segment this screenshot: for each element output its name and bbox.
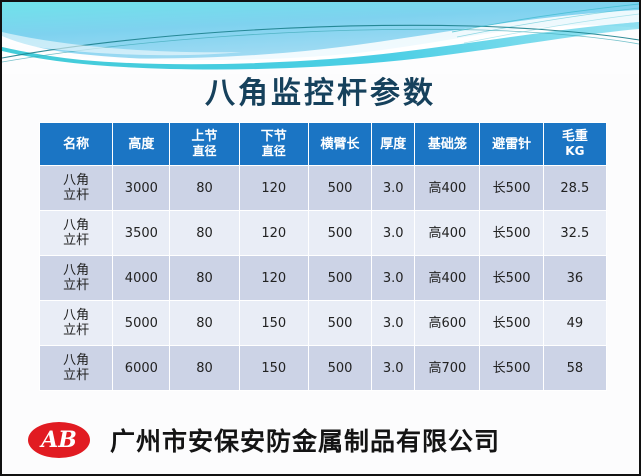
company-logo-icon: AB [28,422,90,458]
cell-upper-diameter: 80 [170,301,238,345]
cell-height: 3500 [113,211,169,255]
column-header-upper-diameter: 上节 直径 [170,123,238,165]
cell-foundation-cage: 高700 [415,346,479,390]
column-header-lower-diameter-sub: 直径 [242,144,306,159]
cell-foundation-cage: 高400 [415,166,479,210]
cell-lightning-rod: 长500 [480,346,542,390]
column-header-foundation-cage-label: 基础笼 [428,137,467,152]
column-header-lower-diameter-label: 下节 [261,129,287,144]
cell-name-line1: 八角 [63,353,89,368]
cell-thickness: 3.0 [372,166,414,210]
footer: AB 广州市安保安防金属制品有限公司 [2,410,639,470]
column-header-thickness-label: 厚度 [380,137,406,152]
column-header-height-label: 高度 [128,137,154,152]
cell-lower-diameter: 120 [240,211,308,255]
cell-name: 八角 立杆 [40,256,112,300]
cell-lightning-rod: 长500 [480,301,542,345]
column-header-name-label: 名称 [63,137,89,152]
cell-height: 4000 [113,256,169,300]
cell-name-line2: 立杆 [42,368,110,383]
params-table-container: 名称 高度 上节 直径 下节 直径 横臂长 [39,122,607,391]
company-logo-text: AB [41,429,77,451]
column-header-name: 名称 [40,123,112,165]
cell-thickness: 3.0 [372,256,414,300]
column-header-lower-diameter: 下节 直径 [240,123,308,165]
cell-upper-diameter: 80 [170,256,238,300]
cell-name: 八角 立杆 [40,346,112,390]
column-header-upper-diameter-sub: 直径 [172,144,236,159]
slide-canvas: 八角监控杆参数 名称 高度 上节 直径 [0,0,641,476]
table-row: 八角 立杆 6000 80 150 500 3.0 高700 长500 58 [40,346,606,390]
cell-name-line1: 八角 [63,263,89,278]
cell-lower-diameter: 150 [240,301,308,345]
cell-thickness: 3.0 [372,211,414,255]
cell-lightning-rod: 长500 [480,166,542,210]
column-header-arm-length: 横臂长 [309,123,371,165]
cell-lightning-rod: 长500 [480,211,542,255]
cell-arm-length: 500 [309,256,371,300]
column-header-arm-length-label: 横臂长 [321,137,360,152]
cell-name-line2: 立杆 [42,233,110,248]
column-header-upper-diameter-label: 上节 [192,129,218,144]
cell-foundation-cage: 高600 [415,301,479,345]
cell-name: 八角 立杆 [40,301,112,345]
cell-upper-diameter: 80 [170,346,238,390]
table-row: 八角 立杆 3500 80 120 500 3.0 高400 长500 32.5 [40,211,606,255]
cell-name-line2: 立杆 [42,323,110,338]
cell-lower-diameter: 120 [240,166,308,210]
table-row: 八角 立杆 4000 80 120 500 3.0 高400 长500 36 [40,256,606,300]
column-header-gross-weight: 毛重 KG [544,123,606,165]
table-header-row: 名称 高度 上节 直径 下节 直径 横臂长 [40,123,606,165]
cell-name-line1: 八角 [63,173,89,188]
cell-name: 八角 立杆 [40,166,112,210]
decorative-wave-banner [2,2,639,74]
column-header-height: 高度 [113,123,169,165]
cell-arm-length: 500 [309,346,371,390]
table-row: 八角 立杆 5000 80 150 500 3.0 高600 长500 49 [40,301,606,345]
cell-thickness: 3.0 [372,301,414,345]
column-header-thickness: 厚度 [372,123,414,165]
cell-name: 八角 立杆 [40,211,112,255]
cell-height: 5000 [113,301,169,345]
company-name: 广州市安保安防金属制品有限公司 [110,422,500,458]
column-header-gross-weight-label: 毛重 [562,129,588,144]
cell-name-line1: 八角 [63,308,89,323]
page-title: 八角监控杆参数 [2,76,639,112]
cell-foundation-cage: 高400 [415,256,479,300]
cell-name-line1: 八角 [63,218,89,233]
cell-name-line2: 立杆 [42,278,110,293]
cell-gross-weight: 36 [544,256,606,300]
cell-gross-weight: 32.5 [544,211,606,255]
cell-thickness: 3.0 [372,346,414,390]
params-table: 名称 高度 上节 直径 下节 直径 横臂长 [39,122,607,391]
cell-upper-diameter: 80 [170,211,238,255]
cell-arm-length: 500 [309,211,371,255]
cell-foundation-cage: 高400 [415,211,479,255]
cell-lower-diameter: 120 [240,256,308,300]
cell-lower-diameter: 150 [240,346,308,390]
column-header-lightning-rod-label: 避雷针 [492,137,531,152]
column-header-gross-weight-unit: KG [546,144,604,159]
cell-height: 3000 [113,166,169,210]
cell-height: 6000 [113,346,169,390]
cell-gross-weight: 49 [544,301,606,345]
cell-name-line2: 立杆 [42,188,110,203]
cell-arm-length: 500 [309,166,371,210]
column-header-foundation-cage: 基础笼 [415,123,479,165]
column-header-lightning-rod: 避雷针 [480,123,542,165]
cell-arm-length: 500 [309,301,371,345]
cell-upper-diameter: 80 [170,166,238,210]
cell-lightning-rod: 长500 [480,256,542,300]
table-row: 八角 立杆 3000 80 120 500 3.0 高400 长500 28.5 [40,166,606,210]
cell-gross-weight: 58 [544,346,606,390]
cell-gross-weight: 28.5 [544,166,606,210]
